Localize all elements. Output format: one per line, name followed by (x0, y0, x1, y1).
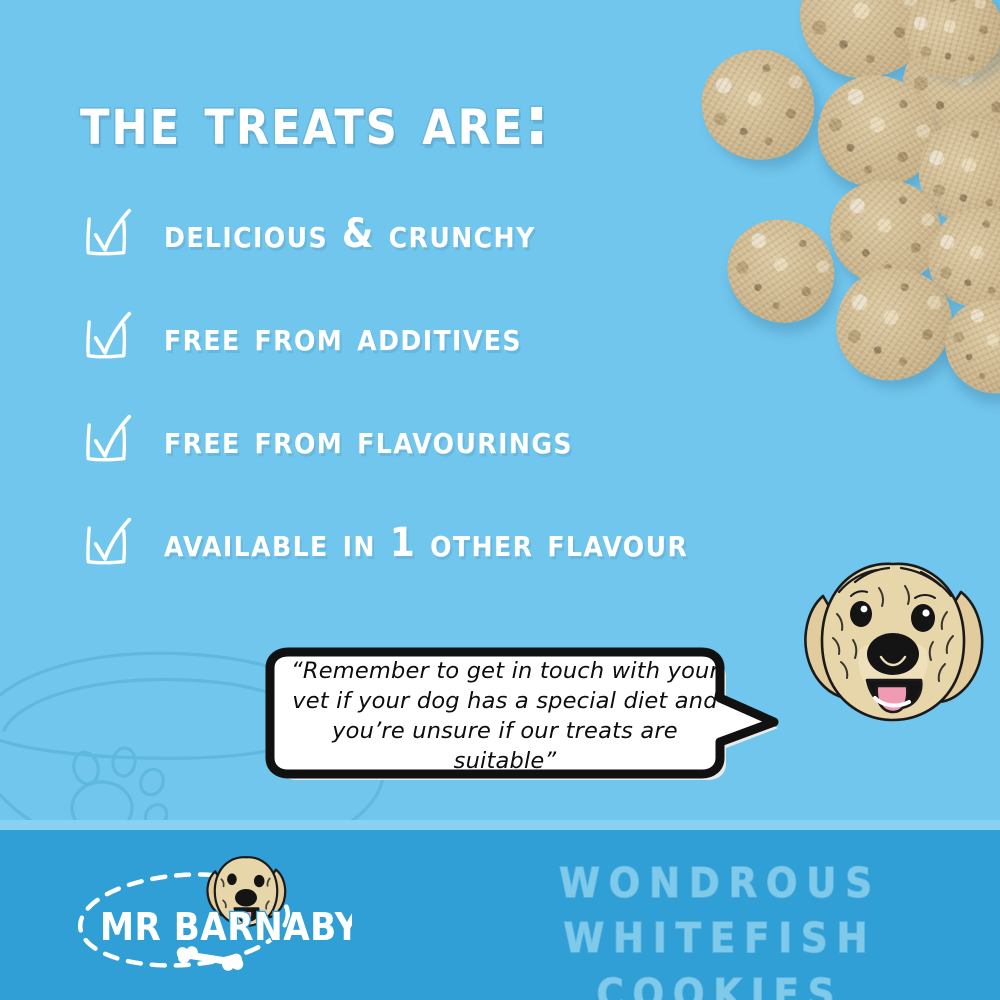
features-checklist: Delicious & Crunchy Free From Additives … (78, 182, 878, 594)
list-item-label: Delicious & Crunchy (164, 214, 536, 254)
speech-bubble-text: “Remember to get in touch with your vet … (290, 656, 720, 777)
cookie-treat (928, 283, 1000, 409)
list-item: Free From Flavourings (78, 388, 878, 491)
cookie-treat (891, 13, 1000, 158)
product-name: Wondrous Whitefish Cookies (460, 856, 980, 1000)
checked-checkbox-icon (78, 206, 134, 262)
list-item-label: Free From Flavourings (164, 420, 573, 460)
cookie-treat (695, 43, 821, 168)
list-item: Free From Additives (78, 285, 878, 388)
footer-highlight-strip (0, 820, 1000, 830)
dog-head-icon (793, 552, 993, 742)
cookie-treat (904, 104, 1000, 238)
list-item: Delicious & Crunchy (78, 182, 878, 285)
checked-checkbox-icon (78, 515, 134, 571)
checked-checkbox-icon (78, 412, 134, 468)
speech-bubble: “Remember to get in touch with your vet … (256, 642, 781, 794)
poster-canvas: The Treats Are: Delicious & Crunchy Free… (0, 0, 1000, 1000)
brand-logo: MR BARNABY'S (52, 848, 352, 983)
list-item-label: Available in 1 Other Flavour (164, 523, 688, 563)
cookie-treat (919, 199, 1000, 317)
product-name-line-2: Whitefish Cookies (460, 911, 980, 1000)
cookie-treat (890, 0, 1000, 94)
list-item-label: Free From Additives (164, 317, 522, 357)
list-item: Available in 1 Other Flavour (78, 491, 878, 594)
page-title: The Treats Are: (80, 88, 551, 156)
checked-checkbox-icon (78, 309, 134, 365)
brand-name: MR BARNABY'S (100, 905, 352, 949)
product-name-line-1: Wondrous (460, 856, 980, 911)
cookie-treat (800, 0, 928, 78)
